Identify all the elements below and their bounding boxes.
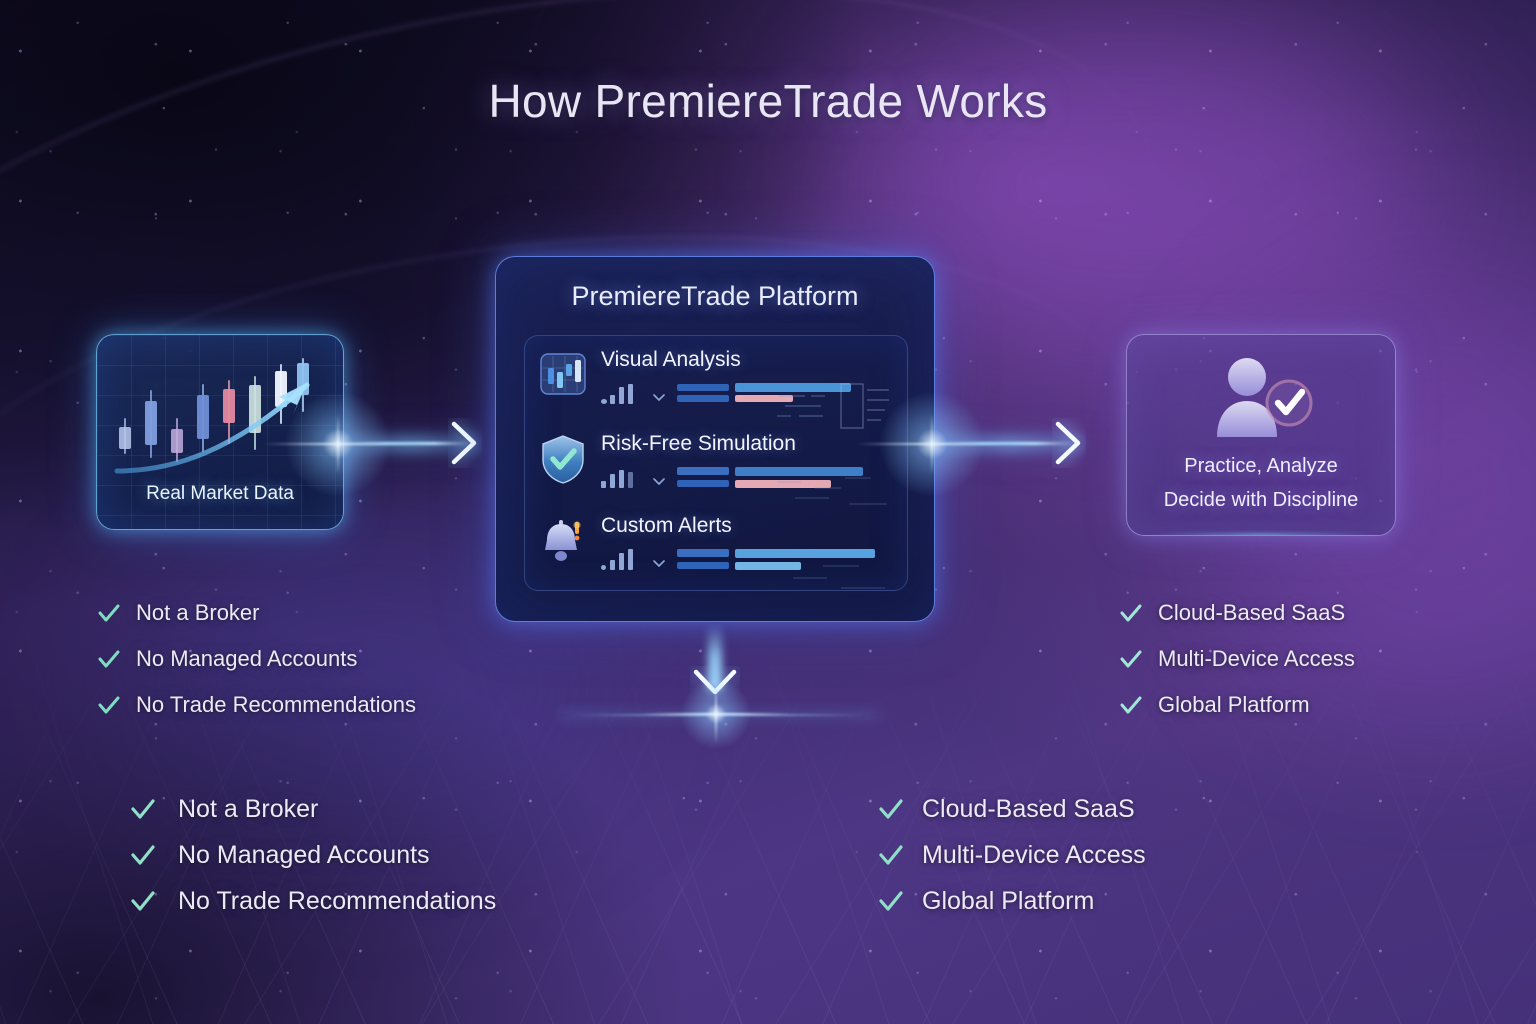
list-item-label: Cloud-Based SaaS [1158, 600, 1345, 626]
user-verified-icon [1201, 353, 1321, 439]
infographic-stage: How PremiereTrade Works [0, 0, 1536, 1024]
list-item: Global Platform [876, 878, 1146, 924]
list-item: Not a Broker [96, 590, 416, 636]
feature-meter-row [601, 380, 891, 406]
list-item-label: No Managed Accounts [178, 841, 430, 870]
check-icon [128, 794, 158, 824]
list-item-label: Not a Broker [178, 795, 318, 824]
chart-tile-icon [539, 350, 587, 398]
check-icon [96, 600, 122, 626]
check-icon [1118, 646, 1144, 672]
list-item: Cloud-Based SaaS [876, 786, 1146, 832]
check-icon [128, 840, 158, 870]
list-item: Global Platform [1118, 682, 1355, 728]
list-item: Not a Broker [128, 786, 496, 832]
mini-bar-chart-icon [601, 468, 641, 488]
feature-meter-row [601, 546, 891, 572]
list-item-label: No Trade Recommendations [136, 692, 416, 718]
check-icon [876, 794, 906, 824]
disclaimer-list-right: Cloud-Based SaaS Multi-Device Access Glo… [1118, 590, 1355, 728]
feature-row-custom-alerts[interactable]: Custom Alerts [539, 512, 897, 588]
list-item: No Trade Recommendations [96, 682, 416, 728]
list-item: No Trade Recommendations [128, 878, 496, 924]
list-item-label: No Managed Accounts [136, 646, 357, 672]
mini-bar-chart-icon [601, 550, 641, 570]
list-item-label: No Trade Recommendations [178, 887, 496, 916]
mini-bar-chart-icon [601, 384, 641, 404]
output-card-practice-analyze[interactable]: Practice, Analyze Decide with Discipline [1126, 334, 1396, 536]
platform-feature-panel: Visual Analysis [524, 335, 908, 591]
benefit-list-left: Not a Broker No Managed Accounts No Trad… [128, 786, 496, 924]
chevron-down-icon [653, 388, 665, 395]
list-item: Multi-Device Access [1118, 636, 1355, 682]
card-bottom-glow [1148, 534, 1373, 536]
list-item-label: Global Platform [1158, 692, 1310, 718]
feature-label: Risk-Free Simulation [601, 432, 796, 456]
chevron-down-icon [653, 472, 665, 479]
feature-meter-row [601, 464, 891, 490]
chevron-down-icon [653, 554, 665, 561]
page-title: How PremiereTrade Works [0, 74, 1536, 128]
list-item-label: Multi-Device Access [922, 841, 1146, 870]
platform-card-title: PremiereTrade Platform [496, 281, 934, 312]
output-card-line2: Decide with Discipline [1127, 489, 1395, 512]
check-icon [1118, 600, 1144, 626]
list-item: No Managed Accounts [128, 832, 496, 878]
list-item-label: Global Platform [922, 887, 1094, 916]
check-icon [128, 886, 158, 916]
check-icon [876, 840, 906, 870]
check-icon [96, 646, 122, 672]
arrow-right-icon [448, 418, 482, 473]
list-item: No Managed Accounts [96, 636, 416, 682]
list-item: Multi-Device Access [876, 832, 1146, 878]
list-item: Cloud-Based SaaS [1118, 590, 1355, 636]
bell-alert-icon [539, 516, 587, 564]
feature-label: Custom Alerts [601, 514, 732, 538]
feature-row-risk-free-simulation[interactable]: Risk-Free Simulation [539, 430, 897, 506]
benefit-list-right: Cloud-Based SaaS Multi-Device Access Glo… [876, 786, 1146, 924]
output-card-line1: Practice, Analyze [1127, 455, 1395, 478]
platform-card[interactable]: PremiereTrade Platform [495, 256, 935, 622]
shield-check-icon [539, 434, 587, 482]
feature-row-visual-analysis[interactable]: Visual Analysis [539, 346, 897, 422]
list-item-label: Cloud-Based SaaS [922, 795, 1135, 824]
decorative-ticks-icon [775, 546, 893, 591]
list-item-label: Not a Broker [136, 600, 260, 626]
feature-label: Visual Analysis [601, 348, 741, 372]
arrow-right-icon [1052, 418, 1086, 473]
disclaimer-list-left: Not a Broker No Managed Accounts No Trad… [96, 590, 416, 728]
list-item-label: Multi-Device Access [1158, 646, 1355, 672]
check-icon [876, 886, 906, 916]
check-icon [96, 692, 122, 718]
check-icon [1118, 692, 1144, 718]
